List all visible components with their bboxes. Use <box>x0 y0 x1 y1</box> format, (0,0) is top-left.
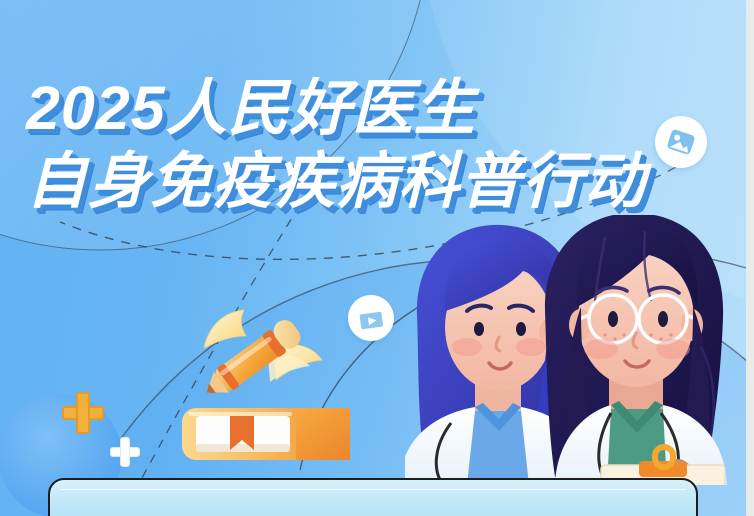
doctor-right-blush-left <box>584 339 618 359</box>
book-spine <box>296 408 350 460</box>
doctor-left-eye-left <box>474 322 484 336</box>
doctor-right <box>545 215 727 485</box>
book-edge-highlight <box>188 412 292 416</box>
plus-orange <box>62 392 104 434</box>
doctor-left-blush-left <box>452 338 482 356</box>
doctors-illustration <box>405 215 750 485</box>
book-pages-shade <box>196 444 290 452</box>
pencil-wing-left <box>204 310 246 348</box>
plus-white <box>110 437 140 467</box>
doctor-left-blush-right <box>516 338 546 356</box>
doctor-right-eye-left <box>608 311 618 327</box>
background-circle-large <box>0 0 430 250</box>
doctor-left-eye-right <box>516 322 526 336</box>
clapperboard-icon <box>354 301 388 335</box>
doctor-right-eye-right <box>658 311 668 327</box>
image-icon <box>660 121 703 164</box>
book-illustration <box>178 400 350 470</box>
plus-icon-vertical <box>76 392 90 434</box>
bottom-panel-highlight <box>60 489 686 490</box>
doctor-right-blush-right <box>656 339 690 359</box>
poster-banner: 2025人民好医生 自身免疫疾病科普行动 <box>0 0 754 516</box>
plus-icon-vertical <box>120 437 130 467</box>
bottom-panel[interactable] <box>48 478 698 516</box>
